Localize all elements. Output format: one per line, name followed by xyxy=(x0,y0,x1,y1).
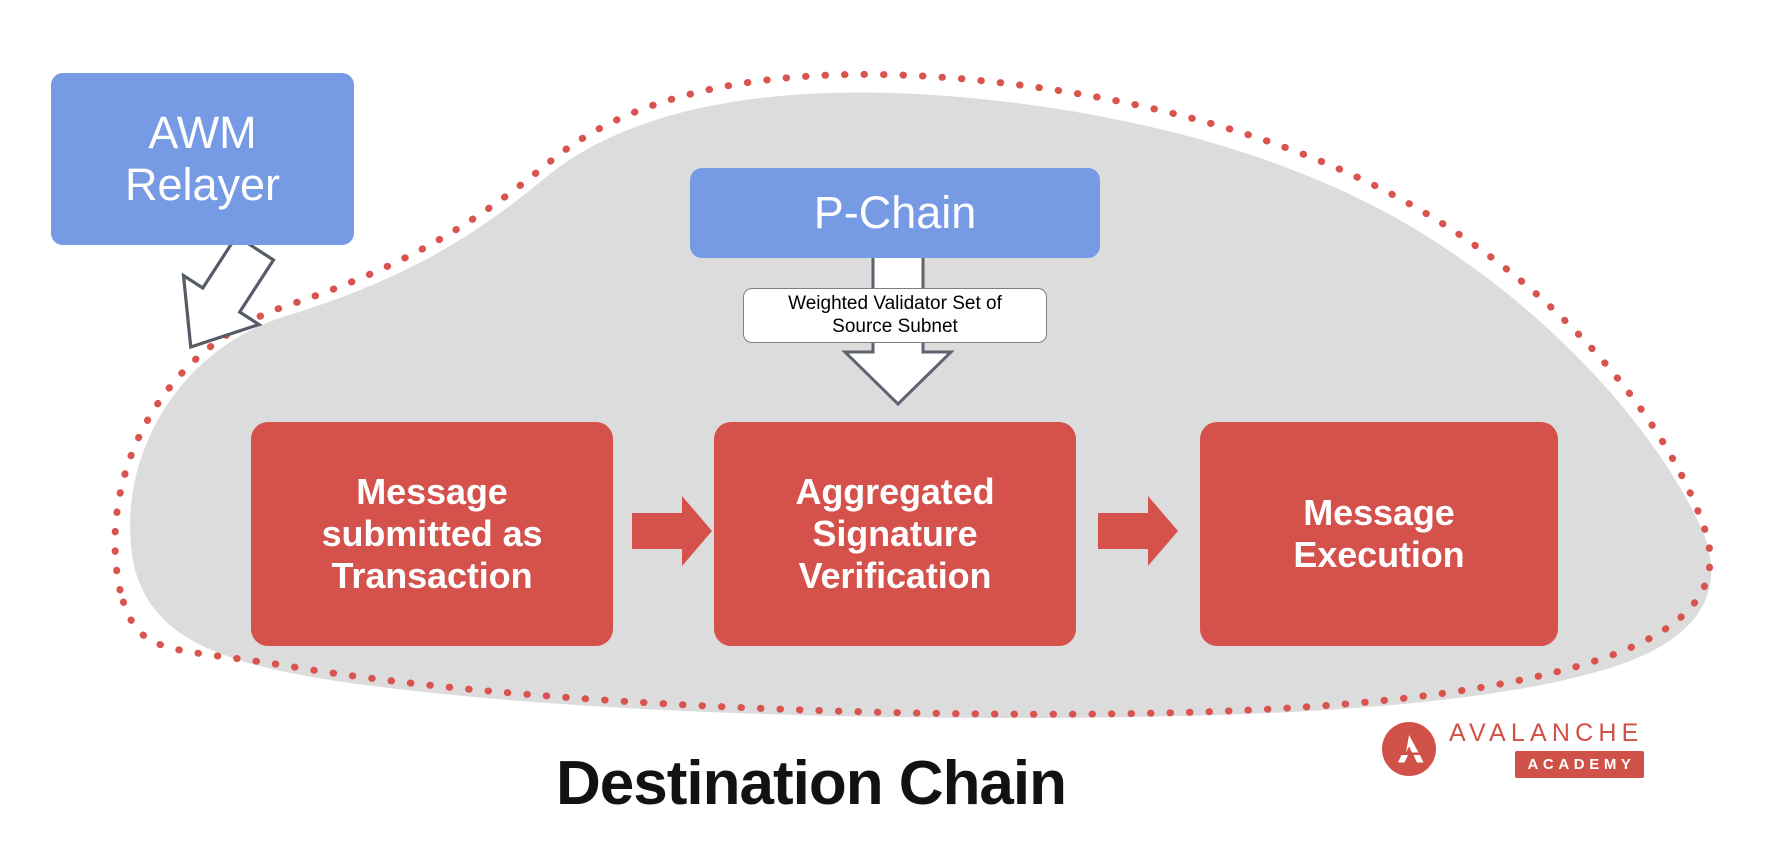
diagram-canvas: AWM Relayer P-Chain Weighted Validator S… xyxy=(0,0,1792,848)
node-aggregated-line3: Verification xyxy=(795,555,994,597)
node-message-submitted-as-transaction[interactable]: Message submitted as Transaction xyxy=(251,422,613,646)
node-aggregated-line1: Aggregated xyxy=(795,471,994,513)
node-aggregated-signature-verification[interactable]: Aggregated Signature Verification xyxy=(714,422,1076,646)
node-message-execution[interactable]: Message Execution xyxy=(1200,422,1558,646)
node-message-submitted-line1: Message xyxy=(322,471,543,513)
logo-text-block: AVALANCHE ACADEMY xyxy=(1449,721,1644,778)
avalanche-academy-logo: AVALANCHE ACADEMY xyxy=(1382,716,1654,782)
node-awm-relayer-line1: AWM xyxy=(125,107,280,159)
node-message-execution-line2: Execution xyxy=(1293,534,1464,576)
node-weighted-validator-set[interactable]: Weighted Validator Set of Source Subnet xyxy=(743,288,1047,343)
logo-sub-wordmark: ACADEMY xyxy=(1515,751,1643,778)
node-awm-relayer-line2: Relayer xyxy=(125,159,280,211)
avalanche-triangle-icon xyxy=(1382,722,1436,776)
node-validator-set-line1: Weighted Validator Set of xyxy=(788,293,1002,315)
node-message-submitted-line2: submitted as xyxy=(322,513,543,555)
node-p-chain[interactable]: P-Chain xyxy=(690,168,1100,258)
node-awm-relayer[interactable]: AWM Relayer xyxy=(51,73,354,245)
node-aggregated-line2: Signature xyxy=(795,513,994,555)
node-p-chain-label: P-Chain xyxy=(814,187,977,239)
node-validator-set-line2: Source Subnet xyxy=(788,316,1002,338)
node-message-submitted-line3: Transaction xyxy=(322,555,543,597)
logo-wordmark: AVALANCHE xyxy=(1449,721,1644,746)
node-message-execution-line1: Message xyxy=(1293,492,1464,534)
